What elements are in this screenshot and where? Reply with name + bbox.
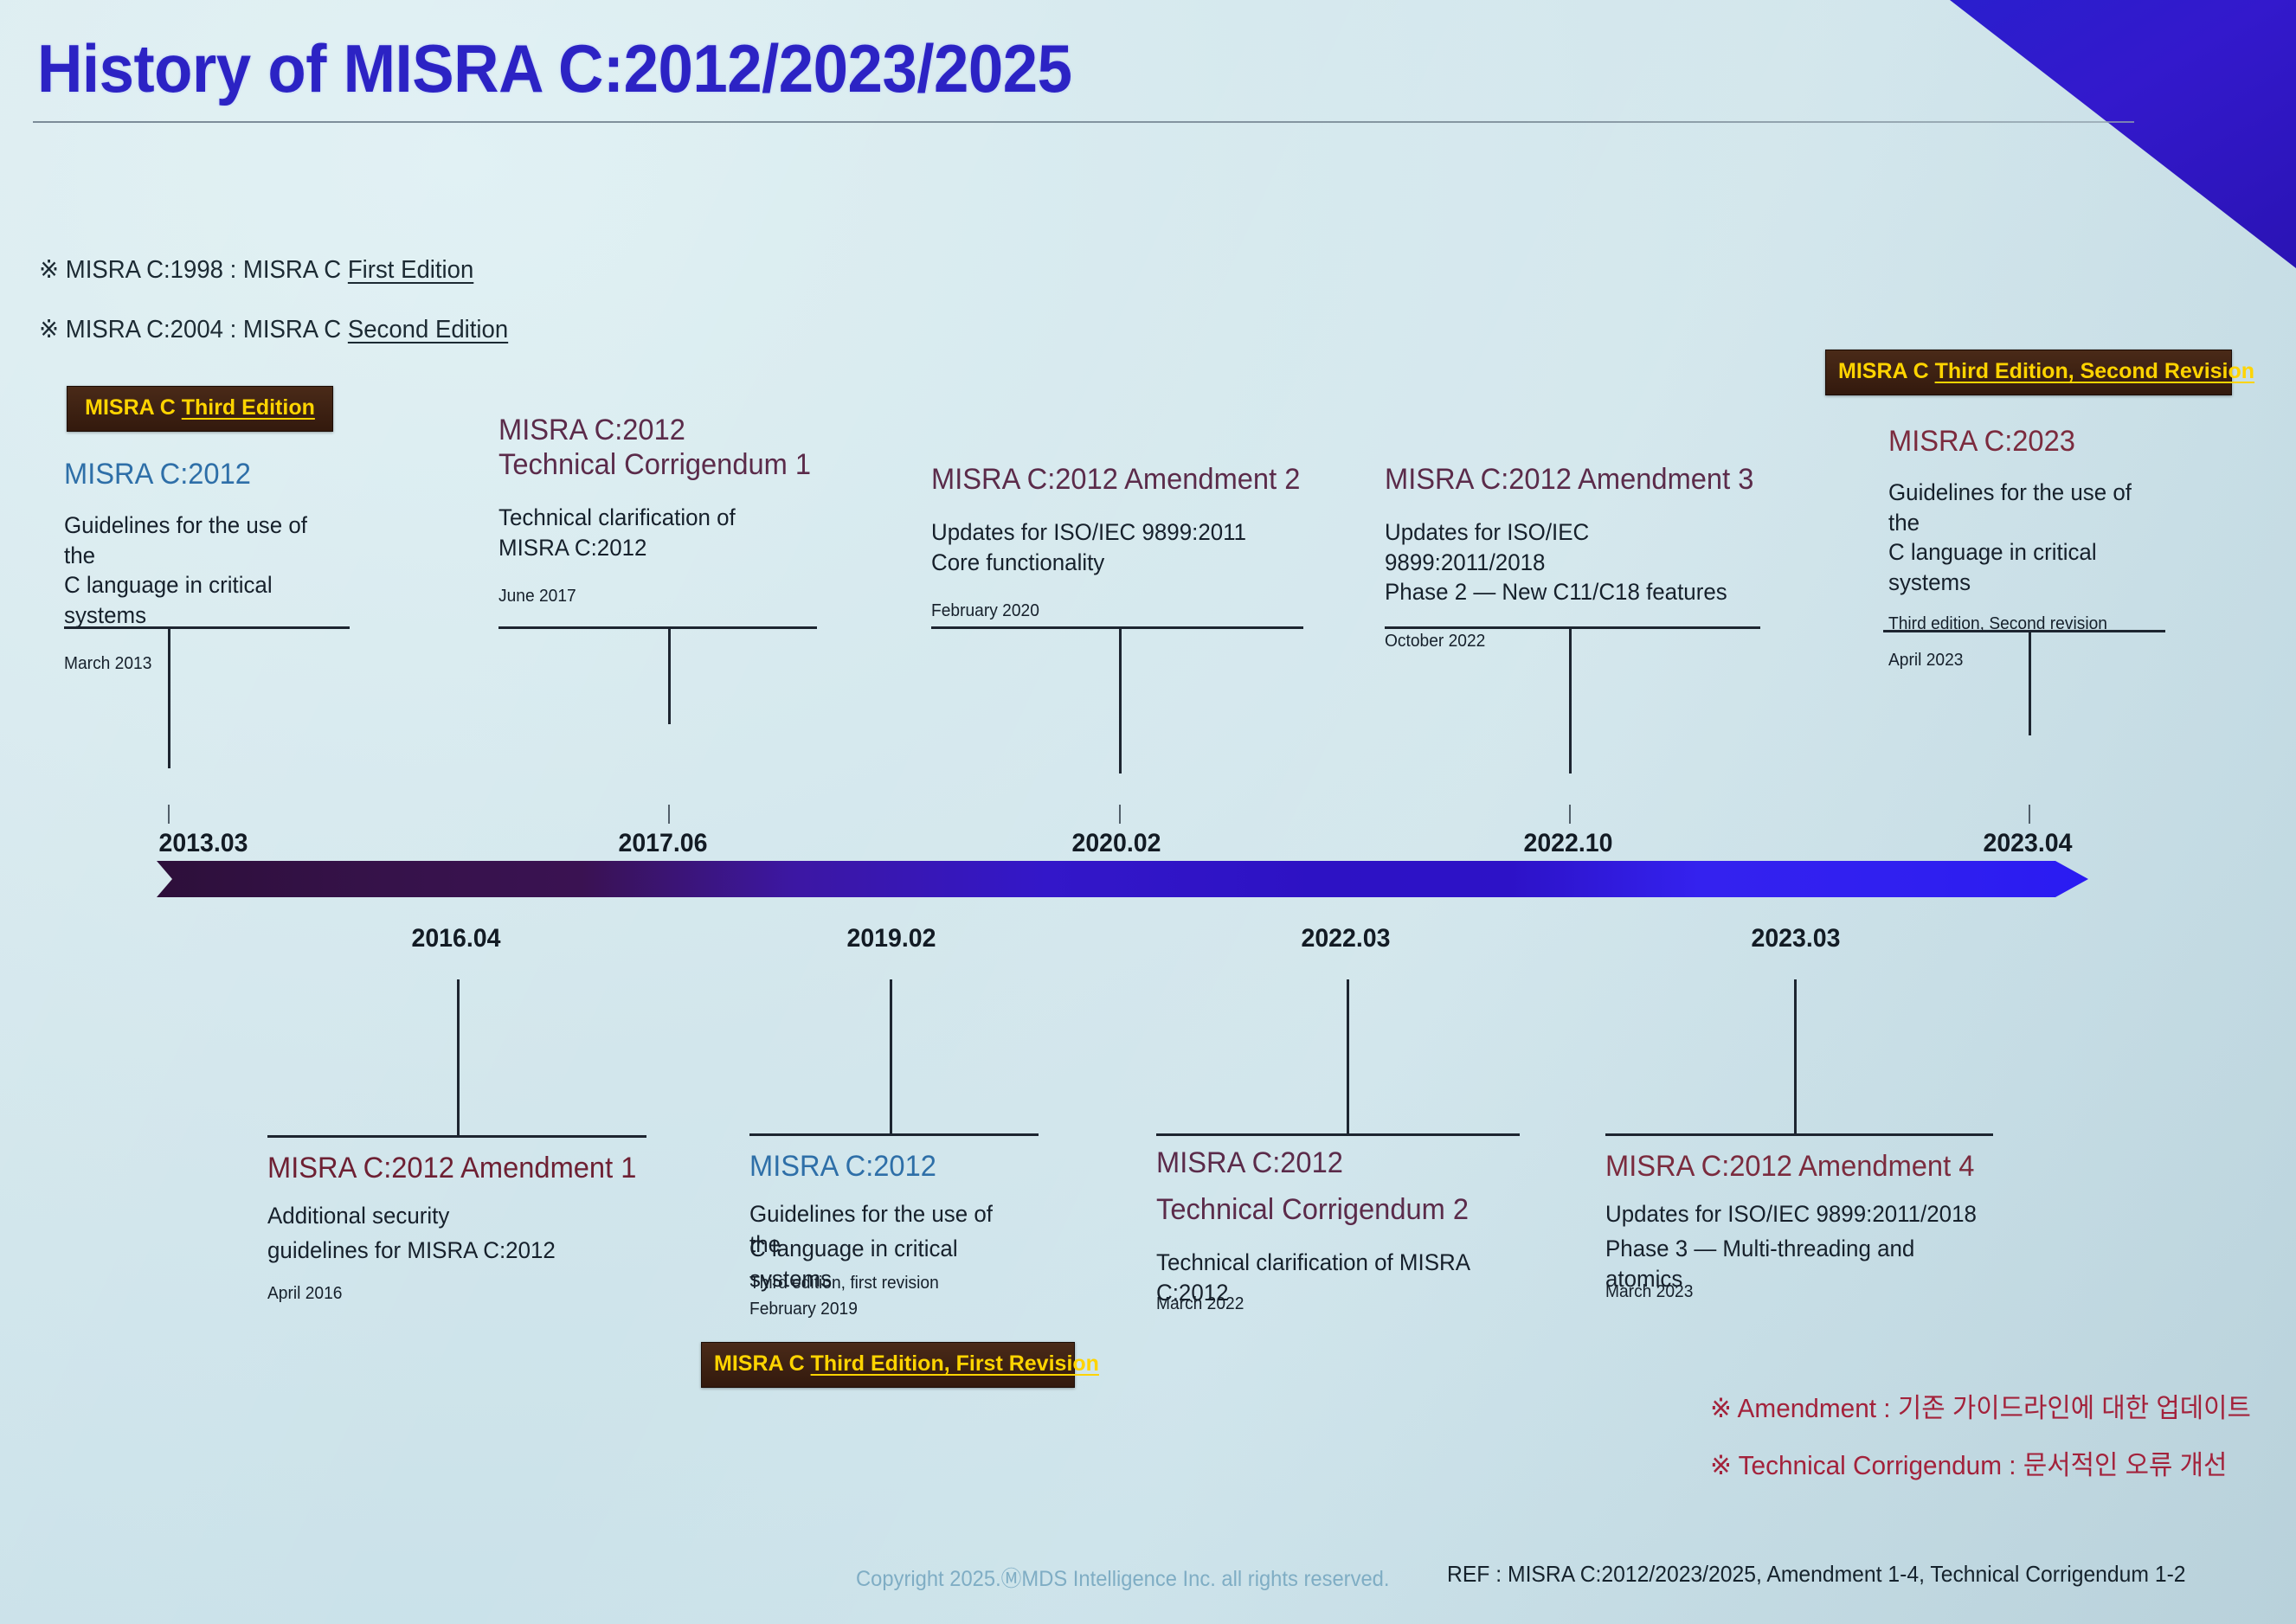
badge-third-edition-underlined: Third Edition — [182, 395, 315, 420]
event-card-desc-line2: MISRA C:2012 — [498, 533, 804, 563]
legend-technical-corrigendum: ※ Technical Corrigendum : 문서적인 오류 개선 — [1710, 1443, 2227, 1482]
badge-third-edition-first-revision: MISRA C Third Edition, First Revision — [701, 1342, 1075, 1388]
badge-second-revision-prefix: MISRA C — [1838, 359, 1935, 383]
event-card-desc-line1: Technical clarification of — [498, 503, 804, 533]
event-card-stem — [1569, 626, 1572, 773]
event-card-title-line1: MISRA C:2012 Amendment 1 — [267, 1151, 636, 1185]
badge-second-revision-underlined: Third Edition, Second Revision — [1935, 359, 2254, 383]
event-card-desc-line2: Phase 2 — New C11/C18 features — [1385, 577, 1746, 607]
event-card-rule — [1156, 1133, 1520, 1136]
event-card-desc-line2: C language in critical systems — [1888, 537, 2154, 597]
timeline-bar-wrapper — [157, 861, 2088, 897]
note-second-edition-underlined: Second Edition — [348, 316, 508, 343]
timeline-tick-2023-04 — [2029, 805, 2030, 824]
timeline-year-2013: 2013.03 — [158, 829, 248, 858]
event-card-title-line1: MISRA C:2012 — [749, 1149, 936, 1184]
event-card-desc-line1: Guidelines for the use of the — [1888, 478, 2154, 537]
badge-first-revision-underlined: Third Edition, First Revision — [811, 1351, 1099, 1376]
event-card-date: March 2013 — [64, 652, 338, 675]
title-divider — [33, 121, 2134, 123]
timeline-tick-2013 — [168, 805, 170, 824]
event-card-desc-line2: guidelines for MISRA C:2012 — [267, 1236, 556, 1266]
event-card-rule — [1883, 630, 2165, 632]
event-card-title-line1: MISRA C:2012 — [498, 413, 804, 447]
event-card-stem — [457, 979, 460, 1135]
corner-triangle-decoration — [1950, 0, 2296, 268]
event-card-stem — [1119, 626, 1122, 773]
event-card-date: June 2017 — [498, 585, 804, 607]
note-first-edition-prefix: ※ MISRA C:1998 : MISRA C — [39, 256, 348, 284]
note-first-edition-underlined: First Edition — [348, 256, 473, 284]
event-card-date: March 2023 — [1605, 1281, 1693, 1303]
event-card-title-line2: Technical Corrigendum 2 — [1156, 1192, 1469, 1227]
event-card-date: April 2023 — [1888, 649, 2154, 671]
event-card-stem — [890, 979, 892, 1133]
timeline-tick-2022-10 — [1569, 805, 1571, 824]
slide-sheen-overlay — [0, 0, 2296, 1624]
event-card-stem — [2029, 630, 2031, 735]
event-card-desc-line1: Updates for ISO/IEC 9899:2011/2018 — [1605, 1199, 1977, 1229]
event-card-rule — [64, 626, 350, 629]
timeline-year-2019: 2019.02 — [846, 924, 936, 953]
timeline-year-2022-10: 2022.10 — [1523, 829, 1612, 858]
badge-third-edition-second-revision: MISRA C Third Edition, Second Revision — [1825, 350, 2232, 395]
event-card-desc-line1: Updates for ISO/IEC 9899:2011 — [931, 517, 1289, 548]
event-card-rule — [267, 1135, 646, 1138]
event-card-desc-line1: Updates for ISO/IEC 9899:2011/2018 — [1385, 517, 1746, 577]
page-title: History of MISRA C:2012/2023/2025 — [37, 29, 1072, 108]
event-card-title-line1: MISRA C:2012 Amendment 4 — [1605, 1149, 1974, 1184]
event-card-date: February 2020 — [931, 600, 1289, 622]
event-card-date: March 2022 — [1156, 1293, 1244, 1315]
badge-third-edition-prefix: MISRA C — [85, 395, 182, 420]
timeline-year-2023-03: 2023.03 — [1751, 924, 1840, 953]
event-card-desc-line1: Guidelines for the use of the — [64, 510, 338, 570]
event-card-misra-c-2023: MISRA C:2023 Guidelines for the use of t… — [1888, 424, 2165, 671]
event-card-date: February 2019 — [749, 1298, 858, 1320]
note-first-edition: ※ MISRA C:1998 : MISRA C First Edition — [39, 254, 473, 285]
footer-reference: REF : MISRA C:2012/2023/2025, Amendment … — [1447, 1561, 2186, 1588]
event-card-title-line2: Technical Corrigendum 1 — [498, 447, 804, 482]
event-card-rule — [749, 1133, 1039, 1136]
timeline-year-2020: 2020.02 — [1071, 829, 1161, 858]
legend-amendment: ※ Amendment : 기존 가이드라인에 대한 업데이트 — [1710, 1386, 2251, 1425]
event-card-rule — [498, 626, 817, 629]
note-second-edition: ※ MISRA C:2004 : MISRA C Second Edition — [39, 314, 508, 344]
event-card-misra-c-2012: MISRA C:2012 Guidelines for the use of t… — [64, 457, 350, 675]
timeline-tick-2017 — [668, 805, 670, 824]
badge-first-revision-prefix: MISRA C — [714, 1351, 811, 1376]
event-card-rule — [1605, 1133, 1993, 1136]
footer-copyright: Copyright 2025.ⓂMDS Intelligence Inc. al… — [856, 1562, 1389, 1593]
event-card-title-line1: MISRA C:2012 — [64, 457, 338, 491]
badge-third-edition: MISRA C Third Edition — [67, 386, 333, 432]
timeline-year-2023-04: 2023.04 — [1983, 829, 2072, 858]
event-card-title-line1: MISRA C:2012 Amendment 2 — [931, 462, 1289, 497]
event-card-stem — [168, 626, 170, 768]
event-card-rule — [931, 626, 1303, 629]
event-card-date: April 2016 — [267, 1282, 342, 1305]
event-card-rule — [1385, 626, 1760, 629]
timeline-year-2017: 2017.06 — [618, 829, 707, 858]
event-card-title-line1: MISRA C:2012 — [1156, 1146, 1343, 1180]
event-card-stem — [668, 626, 671, 724]
event-card-tc1: MISRA C:2012 Technical Corrigendum 1 Tec… — [498, 413, 817, 607]
event-card-stem — [1347, 979, 1349, 1133]
note-second-edition-prefix: ※ MISRA C:2004 : MISRA C — [39, 316, 348, 343]
event-card-title-line1: MISRA C:2012 Amendment 3 — [1385, 462, 1746, 497]
event-card-desc-line1: Additional security — [267, 1201, 449, 1231]
timeline-arrow-bar — [157, 861, 2088, 897]
event-card-subtitle: Third edition, first revision — [749, 1272, 939, 1294]
event-card-desc-line2: Core functionality — [931, 548, 1289, 578]
event-card-amendment-2: MISRA C:2012 Amendment 2 Updates for ISO… — [931, 462, 1303, 622]
event-card-stem — [1794, 979, 1797, 1133]
event-card-desc-line2: C language in critical systems — [64, 570, 338, 630]
timeline-year-2022-03: 2022.03 — [1301, 924, 1390, 953]
event-card-title-line1: MISRA C:2023 — [1888, 424, 2154, 459]
timeline-tick-2020 — [1119, 805, 1121, 824]
event-card-date: October 2022 — [1385, 630, 1746, 652]
event-card-amendment-3: MISRA C:2012 Amendment 3 Updates for ISO… — [1385, 462, 1760, 652]
timeline-year-2016: 2016.04 — [411, 924, 500, 953]
